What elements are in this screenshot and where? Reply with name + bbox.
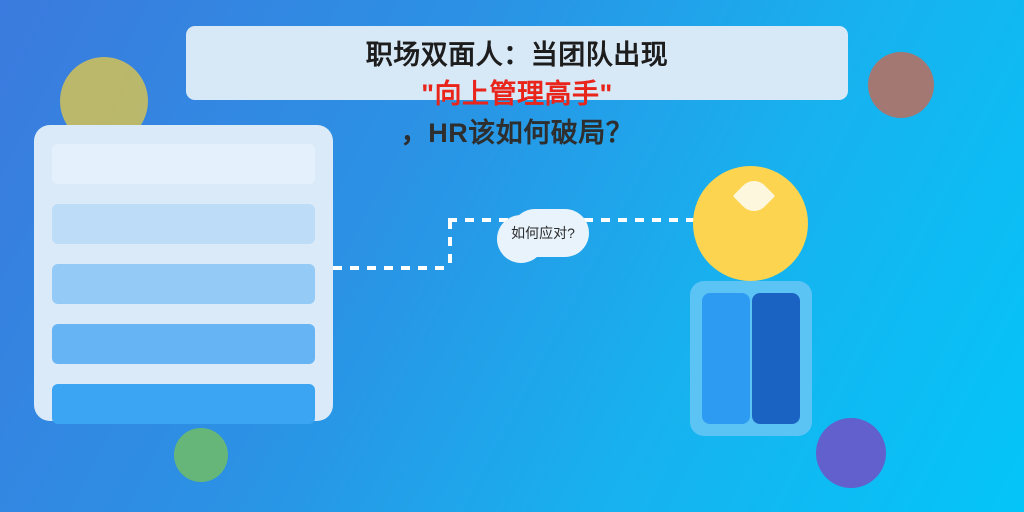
list-item — [52, 384, 315, 424]
title-banner — [186, 26, 848, 100]
illustration-canvas: 职场双面人：当团队出现 "向上管理高手" ，HR该如何破局？ 如何应对? — [0, 0, 1024, 512]
list-item — [52, 204, 315, 244]
list-card-panel — [34, 125, 333, 421]
list-item — [52, 144, 315, 184]
person-body-left-panel — [702, 293, 750, 424]
person-figure — [690, 166, 812, 436]
speech-bubble: 如何应对? — [497, 209, 589, 271]
person-face-mark-icon — [733, 175, 775, 217]
person-head-icon — [693, 166, 808, 281]
decorative-circle-green — [174, 428, 228, 482]
speech-bubble-label: 如何应对? — [497, 209, 589, 257]
person-body-right-panel — [752, 293, 800, 424]
connector-dashed-segment — [333, 266, 452, 270]
connector-dashed-segment — [448, 220, 452, 270]
list-item — [52, 264, 315, 304]
decorative-circle-rose — [868, 52, 934, 118]
decorative-circle-purple — [816, 418, 886, 488]
list-item — [52, 324, 315, 364]
